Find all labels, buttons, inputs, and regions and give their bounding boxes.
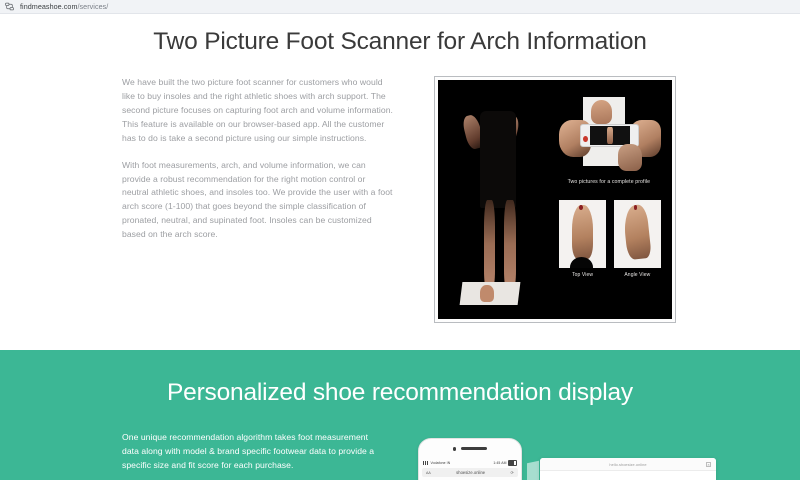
hero-image-frame: Two pictures for a complete profile Top … <box>434 76 676 323</box>
person-leg-right <box>504 200 515 288</box>
phone-url-host[interactable]: shoesize.online <box>456 470 485 475</box>
figure-hands-with-phone <box>557 97 662 176</box>
foot-photo-angle-view <box>614 200 660 269</box>
recommendation-body: One unique recommendation algorithm take… <box>122 431 384 473</box>
phone-status-left: Vodafone IN <box>423 461 450 465</box>
phone-status-right: 1:45 AM <box>493 460 517 466</box>
window-chrome: hello.shoesize.online × <box>540 458 716 471</box>
reload-icon[interactable]: ⟳ <box>510 470 514 475</box>
phone-address-bar[interactable]: AA shoesize.online ⟳ <box>422 468 518 477</box>
signal-bars-icon <box>423 461 429 465</box>
person-torso <box>480 111 516 208</box>
foot-shape-top <box>572 205 592 259</box>
foot-shape-angle <box>623 204 653 260</box>
person-leg-left <box>484 200 495 288</box>
figure-foot-view-pair: Top View Angle View <box>557 200 662 296</box>
image-caption-main: Two pictures for a complete profile <box>550 179 667 185</box>
browser-url-bar[interactable]: findmeashoe.com/services/ <box>0 0 800 14</box>
battery-icon <box>508 460 517 466</box>
ankle-shadow <box>570 257 593 268</box>
hero-paragraph-1: We have built the two picture foot scann… <box>122 76 394 146</box>
window-address[interactable]: hello.shoesize.online <box>609 462 646 467</box>
url-display[interactable]: findmeashoe.com/services/ <box>20 3 108 10</box>
page-title: Two Picture Foot Scanner for Arch Inform… <box>0 27 800 56</box>
foot-photo-top-view <box>559 200 605 269</box>
recommendation-title: Personalized shoe recommendation display <box>0 379 800 407</box>
url-path: /services/ <box>77 2 108 11</box>
text-size-aa-button[interactable]: AA <box>426 471 431 475</box>
foot-on-paper <box>591 100 612 124</box>
hero-section: Two Picture Foot Scanner for Arch Inform… <box>0 14 800 350</box>
camera-preview-leg <box>607 127 613 144</box>
url-host: findmeashoe.com <box>20 2 77 11</box>
foot-second <box>618 144 641 171</box>
image-caption-top-view: Top View <box>559 272 605 278</box>
hero-image: Two pictures for a complete profile Top … <box>438 80 672 319</box>
phone-notch <box>419 447 521 451</box>
phone-speaker-icon <box>461 447 487 450</box>
phone-mockup: Vodafone IN 1:45 AM AA shoesize.online ⟳ <box>418 438 522 480</box>
figure-standing-person <box>452 94 546 304</box>
browser-window-mockup: hello.shoesize.online × <box>540 458 716 480</box>
recommendation-section: Personalized shoe recommendation display… <box>0 350 800 480</box>
site-settings-icon[interactable] <box>5 2 14 11</box>
camera-shutter-icon <box>583 136 588 142</box>
camera-phone-screen <box>590 126 630 146</box>
page-root: findmeashoe.com/services/ Two Picture Fo… <box>0 0 800 480</box>
phone-time: 1:45 AM <box>493 461 506 465</box>
phone-status-bar: Vodafone IN 1:45 AM <box>423 460 517 466</box>
decorative-card-edge <box>527 461 539 480</box>
hero-text-column: We have built the two picture foot scann… <box>122 76 394 255</box>
phone-carrier: Vodafone IN <box>431 461 451 465</box>
close-icon[interactable]: × <box>706 462 711 467</box>
phone-camera-icon <box>453 447 457 451</box>
image-caption-angle-view: Angle View <box>614 272 660 278</box>
hero-paragraph-2: With foot measurements, arch, and volume… <box>122 159 394 243</box>
toenail-accent <box>579 205 583 210</box>
person-foot-on-mat <box>480 285 494 302</box>
window-page-content <box>540 471 716 480</box>
